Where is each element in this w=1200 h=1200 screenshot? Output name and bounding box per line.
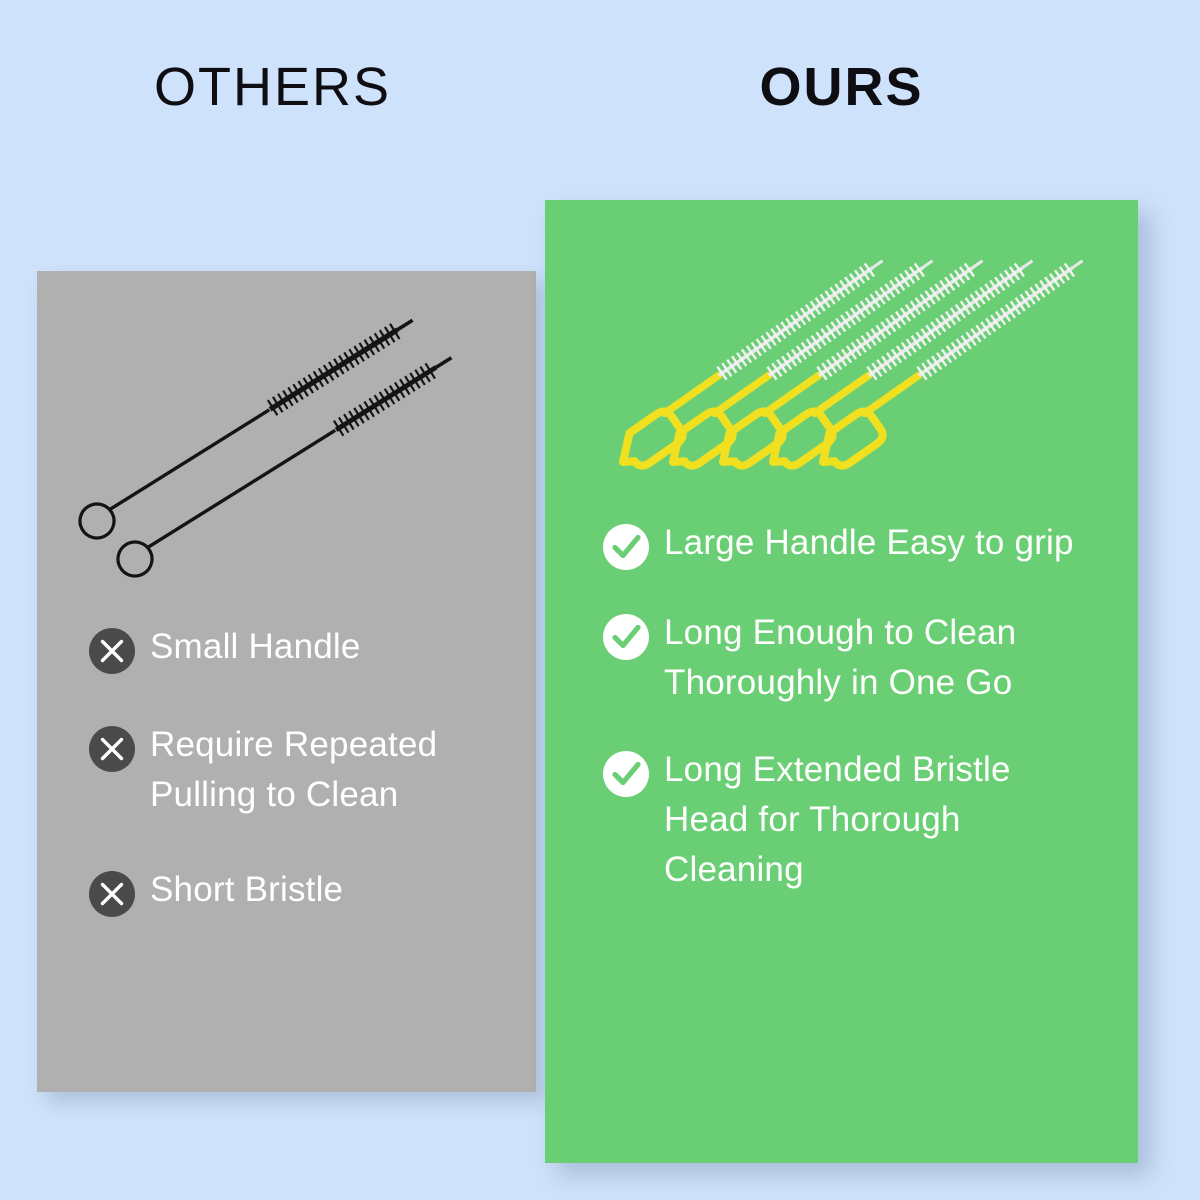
check-icon [603,524,649,570]
page-title-ours: OURS [545,58,1138,117]
feature-list-others: Small Handle Require Repeated Pulling to… [37,622,536,963]
feature-label: Small Handle [150,622,361,672]
cross-icon [89,726,135,772]
feature-item: Require Repeated Pulling to Clean [89,720,536,819]
comparison-panel-ours: Large Handle Easy to grip Long Enough to… [545,200,1138,1163]
feature-label: Long Extended Bristle Head for Thorough … [664,745,1104,894]
check-icon [603,614,649,660]
feature-item: Large Handle Easy to grip [603,518,1138,570]
check-icon [603,751,649,797]
feature-item: Short Bristle [89,865,536,917]
feature-item: Long Enough to Clean Thoroughly in One G… [603,608,1138,707]
cross-icon [89,871,135,917]
page-title-others: OTHERS [0,58,545,117]
feature-item: Small Handle [89,622,536,674]
product-image-ours-brushes [545,200,1138,500]
comparison-panel-others: Small Handle Require Repeated Pulling to… [37,271,536,1092]
feature-label: Short Bristle [150,865,343,915]
product-image-others-brushes [37,271,536,601]
feature-label: Large Handle Easy to grip [664,518,1074,568]
cross-icon [89,628,135,674]
feature-label: Require Repeated Pulling to Clean [150,720,510,819]
feature-list-ours: Large Handle Easy to grip Long Enough to… [545,518,1138,932]
feature-item: Long Extended Bristle Head for Thorough … [603,745,1138,894]
feature-label: Long Enough to Clean Thoroughly in One G… [664,608,1104,707]
